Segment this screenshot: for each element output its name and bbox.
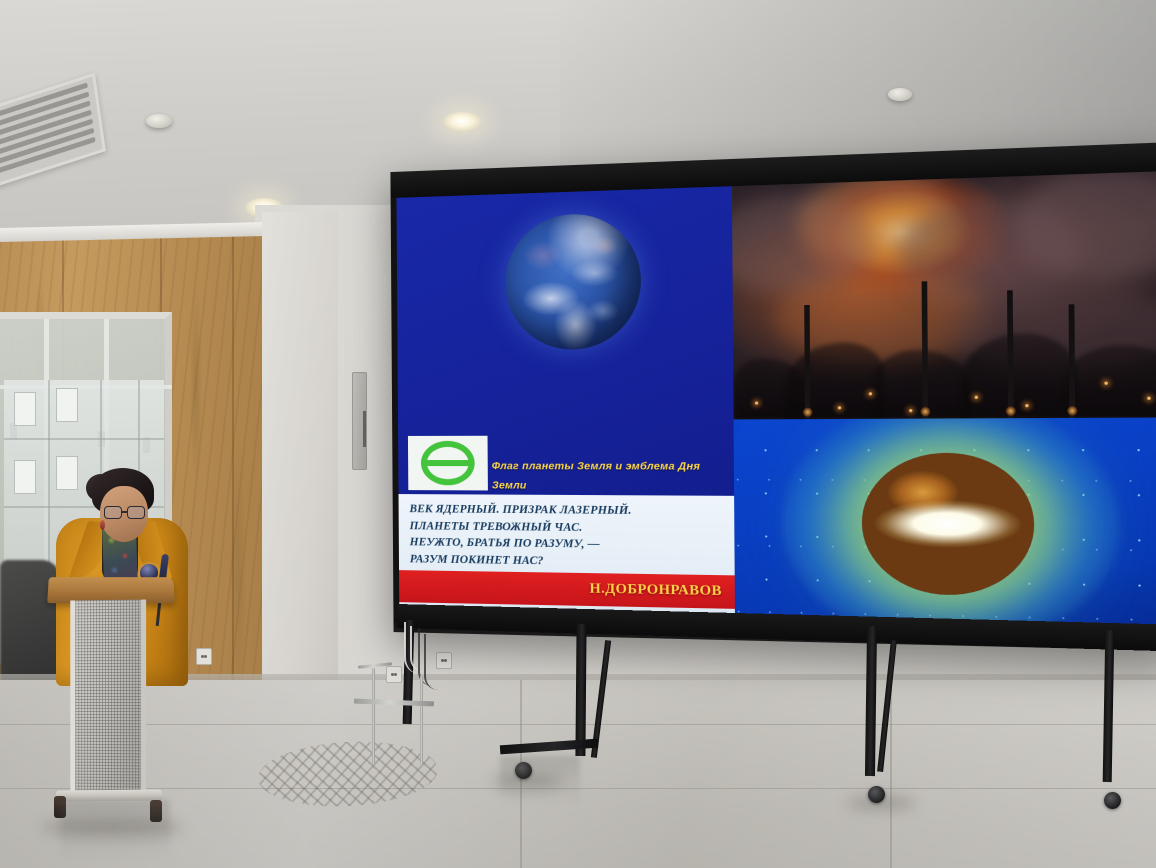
screen-body: Флаг планеты Земля и эмблема Дня Земли В… [390,142,1156,651]
smoke-detector-icon [146,114,172,128]
burning-industrial-plant-photo [732,171,1156,419]
wall-control-panel[interactable] [352,372,367,470]
screen-content-area: Флаг планеты Земля и эмблема Дня Земли В… [396,171,1156,635]
chimney-stack [922,281,929,418]
white-wall-column [262,212,338,692]
eyeglasses-icon [104,506,148,519]
chimney-stack [804,305,810,419]
planet-earth-photo [504,212,641,350]
podium-mesh-front [70,599,146,796]
stand-leg [575,624,586,756]
wall-power-socket[interactable] [196,648,212,665]
slide-caption: Флаг планеты Земля и эмблема Дня Земли [492,457,701,495]
chimney-stack [1069,304,1076,418]
earth-day-theta-emblem-icon [408,436,488,491]
slide-left-panel: Флаг планеты Земля и эмблема Дня Земли В… [396,186,735,625]
smoke-detector-icon [888,88,912,101]
earring-icon [100,520,105,530]
slide-right-column [732,171,1156,635]
power-cable [424,634,450,690]
stand-caster-wheel [1104,792,1121,809]
poem-text-block: ВЕК ЯДЕРНЫЙ. ПРИЗРАК ЛАЗЕРНЫЙ. ПЛАНЕТЫ Т… [399,494,735,577]
led-video-wall[interactable]: Флаг планеты Земля и эмблема Дня Земли В… [392,172,1118,632]
burning-earth-photo [734,417,1156,635]
chimney-stack [1007,290,1014,418]
floor-stand-pole [372,668,375,764]
floor-stand-pole [420,676,423,764]
speaker-podium [48,576,174,828]
wall-power-socket[interactable] [386,666,402,683]
poem-line: РАЗУМ ПОКИНЕТ НАС? [410,551,725,573]
ceiling-downlight-icon [442,112,482,132]
stand-leg [865,626,877,776]
presentation-room-photo: Флаг планеты Земля и эмблема Дня Земли В… [0,0,1156,868]
author-name: Н.ДОБРОНРАВОВ [589,581,722,600]
